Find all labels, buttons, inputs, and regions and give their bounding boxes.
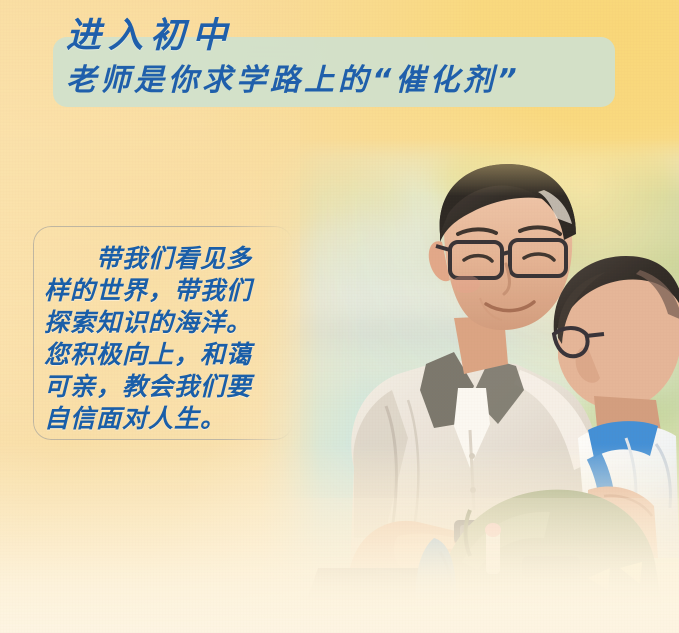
page-subtitle: 老师是你求学路上的“催化剂” bbox=[66, 55, 521, 99]
page-title: 进入初中 bbox=[66, 7, 234, 58]
student-quote-text: 带我们看见多样的世界，带我们探索知识的海洋。您积极向上，和蔼可亲，教会我们要自信… bbox=[44, 243, 276, 435]
title-block: 进入初中 老师是你求学路上的“催化剂” bbox=[0, 0, 679, 130]
poster-canvas: 进入初中 老师是你求学路上的“催化剂” 带我们看见多样的世界，带我们探索知识的海… bbox=[0, 0, 679, 633]
teacher-student-illustration bbox=[258, 138, 679, 608]
